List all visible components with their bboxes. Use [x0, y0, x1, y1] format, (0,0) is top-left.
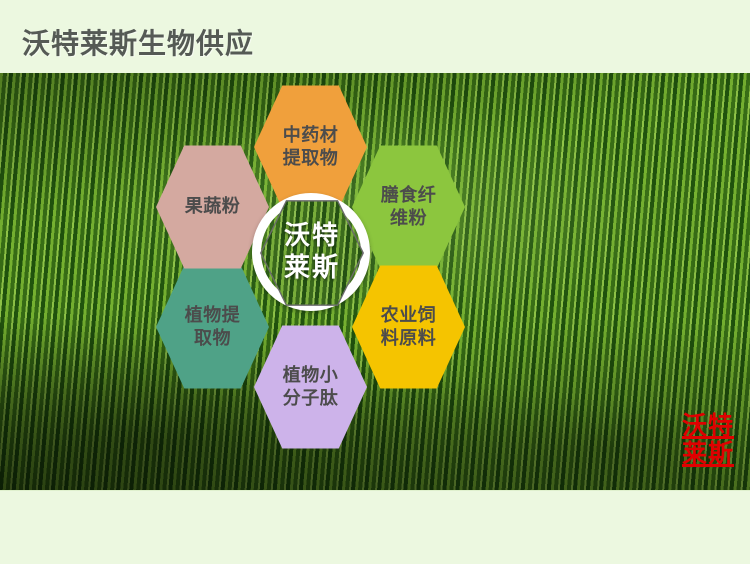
hex-label-line1: 农业饲 [381, 304, 437, 327]
center-brand-label: 沃特 莱斯 [284, 221, 340, 284]
hex-label-line2: 取物 [194, 327, 231, 350]
hex-label-line1: 膳食纤 [381, 184, 437, 207]
hex-tile-plant-peptide[interactable]: 植物小 分子肽 [254, 323, 367, 451]
watermark-line2: 莱斯 [682, 440, 734, 468]
hex-label-line1: 中药材 [283, 124, 339, 147]
hex-tile-agricultural-feed-material[interactable]: 农业饲 料原料 [352, 263, 465, 391]
hero-image-area: 中药材 提取物 膳食纤 维粉 农业饲 料原料 植物小 分子肽 植物提 取物 果蔬… [0, 73, 750, 490]
hex-label-line2: 维粉 [390, 207, 427, 230]
page-title: 沃特莱斯生物供应 [22, 22, 254, 62]
hex-label-line1: 植物提 [185, 304, 241, 327]
header-band: 沃特莱斯生物供应 [0, 0, 750, 73]
hex-tile-chinese-medicine-extract[interactable]: 中药材 提取物 [254, 83, 367, 211]
hex-label-line1: 果蔬粉 [185, 195, 241, 218]
center-hexagon-brand[interactable]: 沃特 莱斯 [260, 199, 364, 307]
hex-label-line2: 分子肽 [283, 387, 339, 410]
center-label-line1: 沃特 [284, 221, 340, 253]
center-label-line2: 莱斯 [284, 253, 340, 285]
hex-tile-plant-extract[interactable]: 植物提 取物 [156, 263, 269, 391]
hex-label-line1: 植物小 [283, 364, 339, 387]
brand-watermark: 沃特 莱斯 [682, 412, 734, 468]
hex-label-line2: 提取物 [283, 147, 339, 170]
page-root: 沃特莱斯生物供应 中药材 提取物 膳食纤 维粉 农业饲 料原料 植物小 分子肽 … [0, 0, 750, 564]
footer-band [0, 490, 750, 564]
product-hexagon-diagram: 中药材 提取物 膳食纤 维粉 农业饲 料原料 植物小 分子肽 植物提 取物 果蔬… [130, 81, 490, 481]
hex-label-line2: 料原料 [381, 327, 437, 350]
watermark-line1: 沃特 [682, 412, 734, 440]
